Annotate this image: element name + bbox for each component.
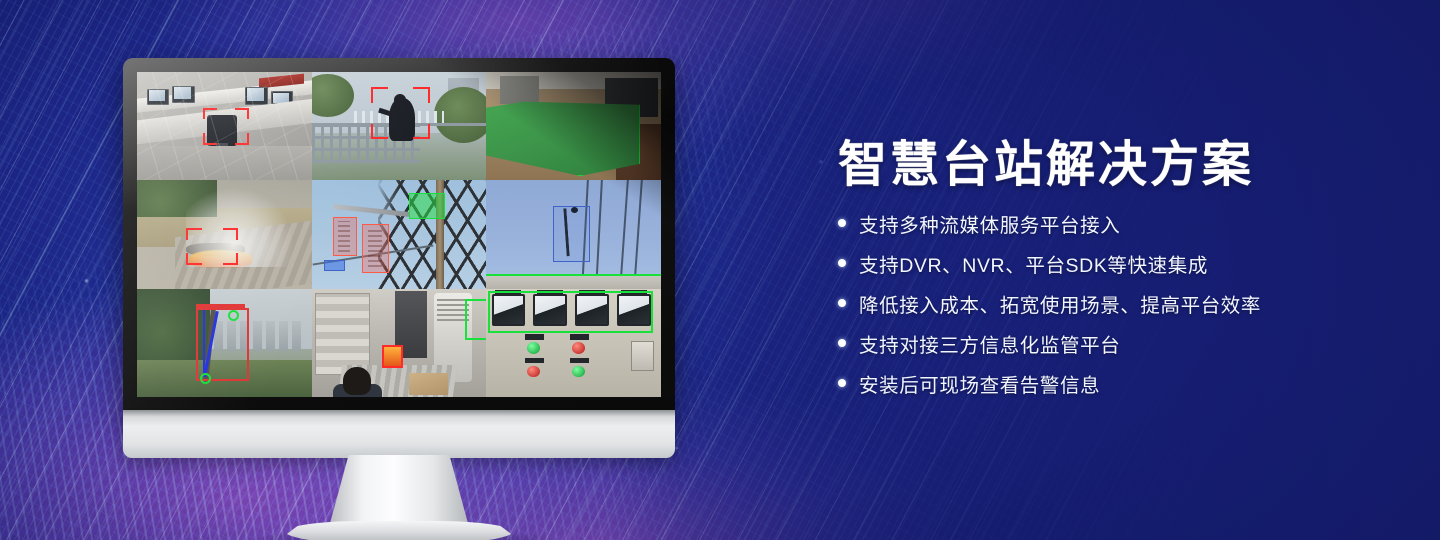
bullet-icon (838, 379, 846, 387)
feature-text: 安装后可现场查看告警信息 (859, 369, 1100, 398)
monitor-stand-neck (329, 455, 469, 527)
indicator-lamp-green (527, 342, 540, 354)
grid-cell-control-room[interactable] (137, 72, 312, 180)
list-item: 安装后可现场查看告警信息 (838, 369, 1398, 398)
solution-banner: 智慧台站解决方案 支持多种流媒体服务平台接入 支持DVR、NVR、平台SDK等快… (0, 0, 1440, 540)
feature-text: 支持DVR、NVR、平台SDK等快速集成 (859, 249, 1208, 278)
bullet-icon (838, 339, 846, 347)
detection-region-green (486, 100, 640, 176)
indicator-lamp-red (572, 342, 585, 354)
grid-cell-transmission-tower[interactable] (312, 180, 487, 288)
grid-cell-control-cabinet[interactable] (486, 289, 661, 397)
surveillance-grid (137, 72, 661, 397)
worker-figure (343, 367, 371, 395)
page-title: 智慧台站解决方案 (838, 138, 1398, 193)
list-item: 支持对接三方信息化监管平台 (838, 329, 1398, 358)
meter-gauge (575, 294, 609, 326)
meter-gauge (533, 294, 567, 326)
cabinet-switch (631, 341, 654, 371)
feature-text: 支持对接三方信息化监管平台 (859, 329, 1120, 358)
list-item: 降低接入成本、拓宽使用场景、提高平台效率 (838, 289, 1398, 318)
feature-text: 降低接入成本、拓宽使用场景、提高平台效率 (859, 289, 1261, 318)
feature-list: 支持多种流媒体服务平台接入 支持DVR、NVR、平台SDK等快速集成 降低接入成… (838, 209, 1398, 398)
meter-gauge (492, 294, 526, 326)
bullet-icon (838, 219, 846, 227)
indicator-lamp-red (527, 366, 540, 378)
monitor-bezel (123, 58, 675, 413)
list-item: 支持DVR、NVR、平台SDK等快速集成 (838, 249, 1398, 278)
list-item: 支持多种流媒体服务平台接入 (838, 209, 1398, 238)
foreign-object (556, 208, 584, 256)
monitor-chin (123, 410, 675, 458)
smoke-plume (186, 187, 294, 267)
monitor-stand-base (286, 521, 512, 540)
desktop-monitor (123, 58, 675, 493)
meter-gauge (617, 294, 651, 326)
grid-cell-tilted-pole[interactable] (137, 289, 312, 397)
banner-content: 智慧台站解决方案 支持多种流媒体服务平台接入 支持DVR、NVR、平台SDK等快… (838, 138, 1398, 409)
bullet-icon (838, 259, 846, 267)
indicator-lamp-green (572, 366, 585, 378)
grid-cell-fence-intrusion[interactable] (312, 72, 487, 180)
grid-cell-equipment-room[interactable] (312, 289, 487, 397)
grid-cell-yard-region[interactable] (486, 72, 661, 180)
grid-cell-foreign-object[interactable] (486, 180, 661, 288)
grid-cell-field-fire[interactable] (137, 180, 312, 288)
bullet-icon (838, 299, 846, 307)
feature-text: 支持多种流媒体服务平台接入 (859, 209, 1120, 238)
